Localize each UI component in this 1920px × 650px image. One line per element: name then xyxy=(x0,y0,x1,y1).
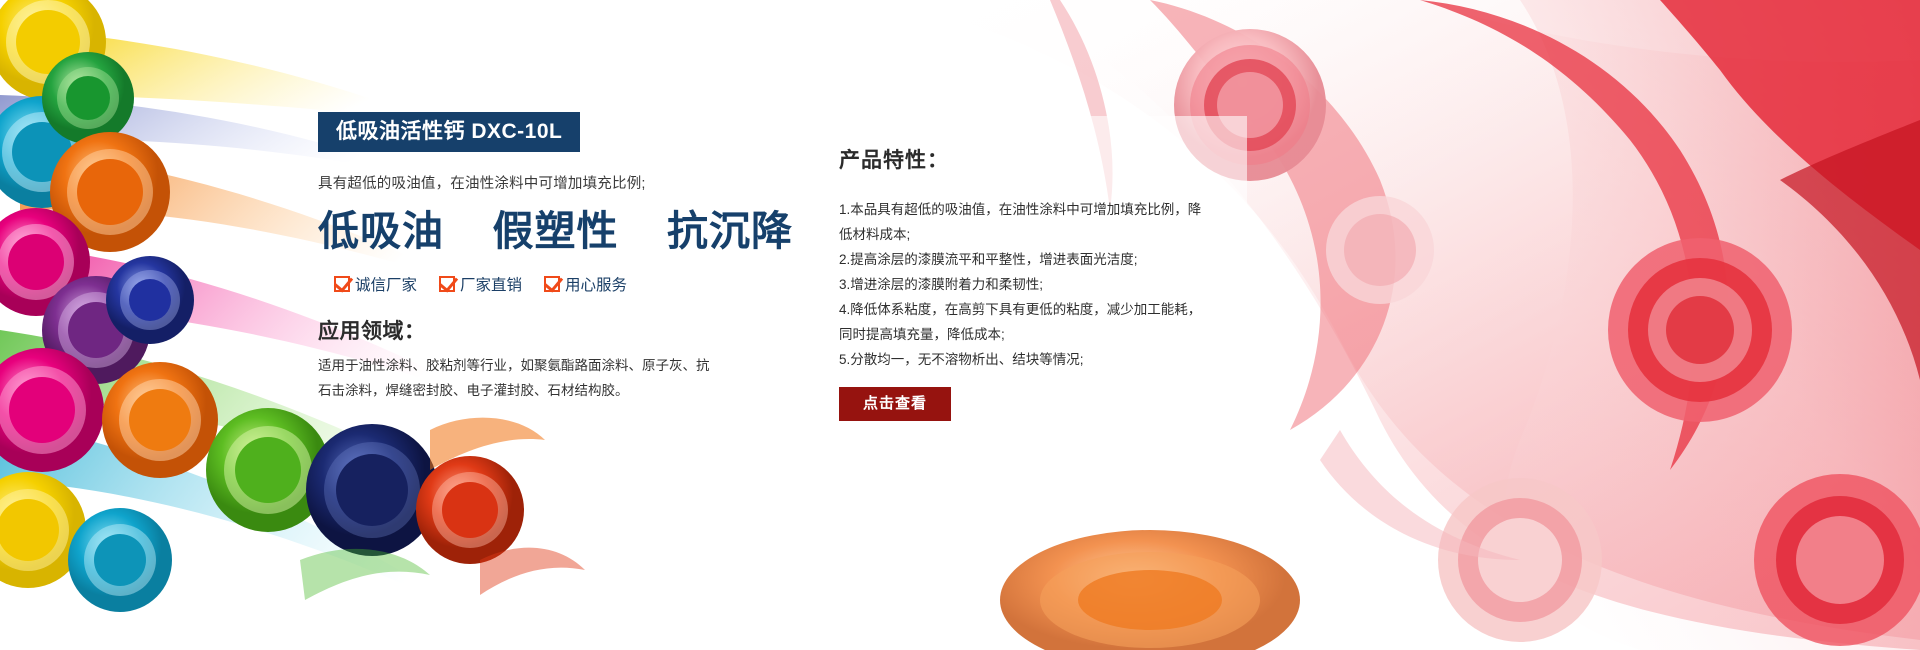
paint-pot-orange-2 xyxy=(102,362,218,478)
feature-badge-3-label: 用心服务 xyxy=(565,273,627,295)
feature-badge-2: 厂家直销 xyxy=(439,273,522,295)
feature-badge-row: 诚信厂家 厂家直销 用心服务 xyxy=(334,273,738,295)
application-section-body: 适用于油性涂料、胶粘剂等行业，如聚氨酯路面涂料、原子灰、抗石击涂料，焊缝密封胶、… xyxy=(318,354,718,404)
feature-badge-2-label: 厂家直销 xyxy=(460,273,522,295)
panel-list-item: 4.降低体系粘度，在高剪下具有更低的粘度，减少加工能耗，同时提高填充量，降低成本… xyxy=(839,298,1213,348)
product-features-panel: 产品特性： 1.本品具有超低的吸油值，在油性涂料中可增加填充比例，降低材料成本;… xyxy=(805,116,1247,434)
application-section-title: 应用领域： xyxy=(318,315,738,345)
check-box-icon xyxy=(439,276,455,292)
paint-pot-lime xyxy=(206,408,330,532)
product-headline: 低吸油 假塑性 抗沉降 xyxy=(318,208,738,255)
check-box-icon xyxy=(544,276,560,292)
paint-pool-red-right xyxy=(1608,238,1792,422)
paint-pot-magenta-lower xyxy=(0,348,104,472)
product-banner: 低吸油活性钙 DXC-10L 具有超低的吸油值，在油性涂料中可增加填充比例; 低… xyxy=(0,0,1920,650)
panel-feature-list: 1.本品具有超低的吸油值，在油性涂料中可增加填充比例，降低材料成本; 2.提高涂… xyxy=(839,198,1213,373)
panel-list-item: 3.增进涂层的漆膜附着力和柔韧性; xyxy=(839,273,1213,298)
paint-pot-green xyxy=(42,52,134,144)
paint-pot-blue xyxy=(106,256,194,344)
paint-pool-red-bottom-right xyxy=(1754,474,1920,646)
left-content-column: 低吸油活性钙 DXC-10L 具有超低的吸油值，在油性涂料中可增加填充比例; 低… xyxy=(318,112,738,404)
paint-pot-cyan-2 xyxy=(68,508,172,612)
panel-list-item: 2.提高涂层的漆膜流平和平整性，增进表面光洁度; xyxy=(839,248,1213,273)
paint-pot-yellow xyxy=(0,0,106,100)
feature-badge-1-label: 诚信厂家 xyxy=(355,273,417,295)
paint-pot-purple xyxy=(42,276,150,384)
product-subtitle: 具有超低的吸油值，在油性涂料中可增加填充比例; xyxy=(318,174,738,196)
headline-part-2: 假塑性 xyxy=(493,208,619,254)
headline-part-3: 抗沉降 xyxy=(667,208,793,254)
paint-pot-magenta-upper xyxy=(0,208,90,316)
headline-part-1: 低吸油 xyxy=(318,208,444,254)
paint-pot-orange xyxy=(50,132,170,252)
feature-badge-1: 诚信厂家 xyxy=(334,273,417,295)
paint-pot-red xyxy=(416,456,524,564)
view-details-button[interactable]: 点击查看 xyxy=(839,387,951,421)
check-box-icon xyxy=(334,276,350,292)
panel-title: 产品特性： xyxy=(839,144,1213,174)
product-title-chip: 低吸油活性钙 DXC-10L xyxy=(318,112,580,152)
paint-pool-pink-bottom xyxy=(1438,478,1602,642)
paint-pot-yellow-2 xyxy=(0,472,86,588)
feature-badge-3: 用心服务 xyxy=(544,273,627,295)
paint-pot-navy xyxy=(306,424,438,556)
paint-pool-orange-bottom xyxy=(1000,530,1300,650)
paint-pool-pink-mid xyxy=(1326,196,1434,304)
paint-pot-cyan xyxy=(0,96,98,208)
panel-list-item: 1.本品具有超低的吸油值，在油性涂料中可增加填充比例，降低材料成本; xyxy=(839,198,1213,248)
panel-list-item: 5.分散均一，无不溶物析出、结块等情况; xyxy=(839,348,1213,373)
